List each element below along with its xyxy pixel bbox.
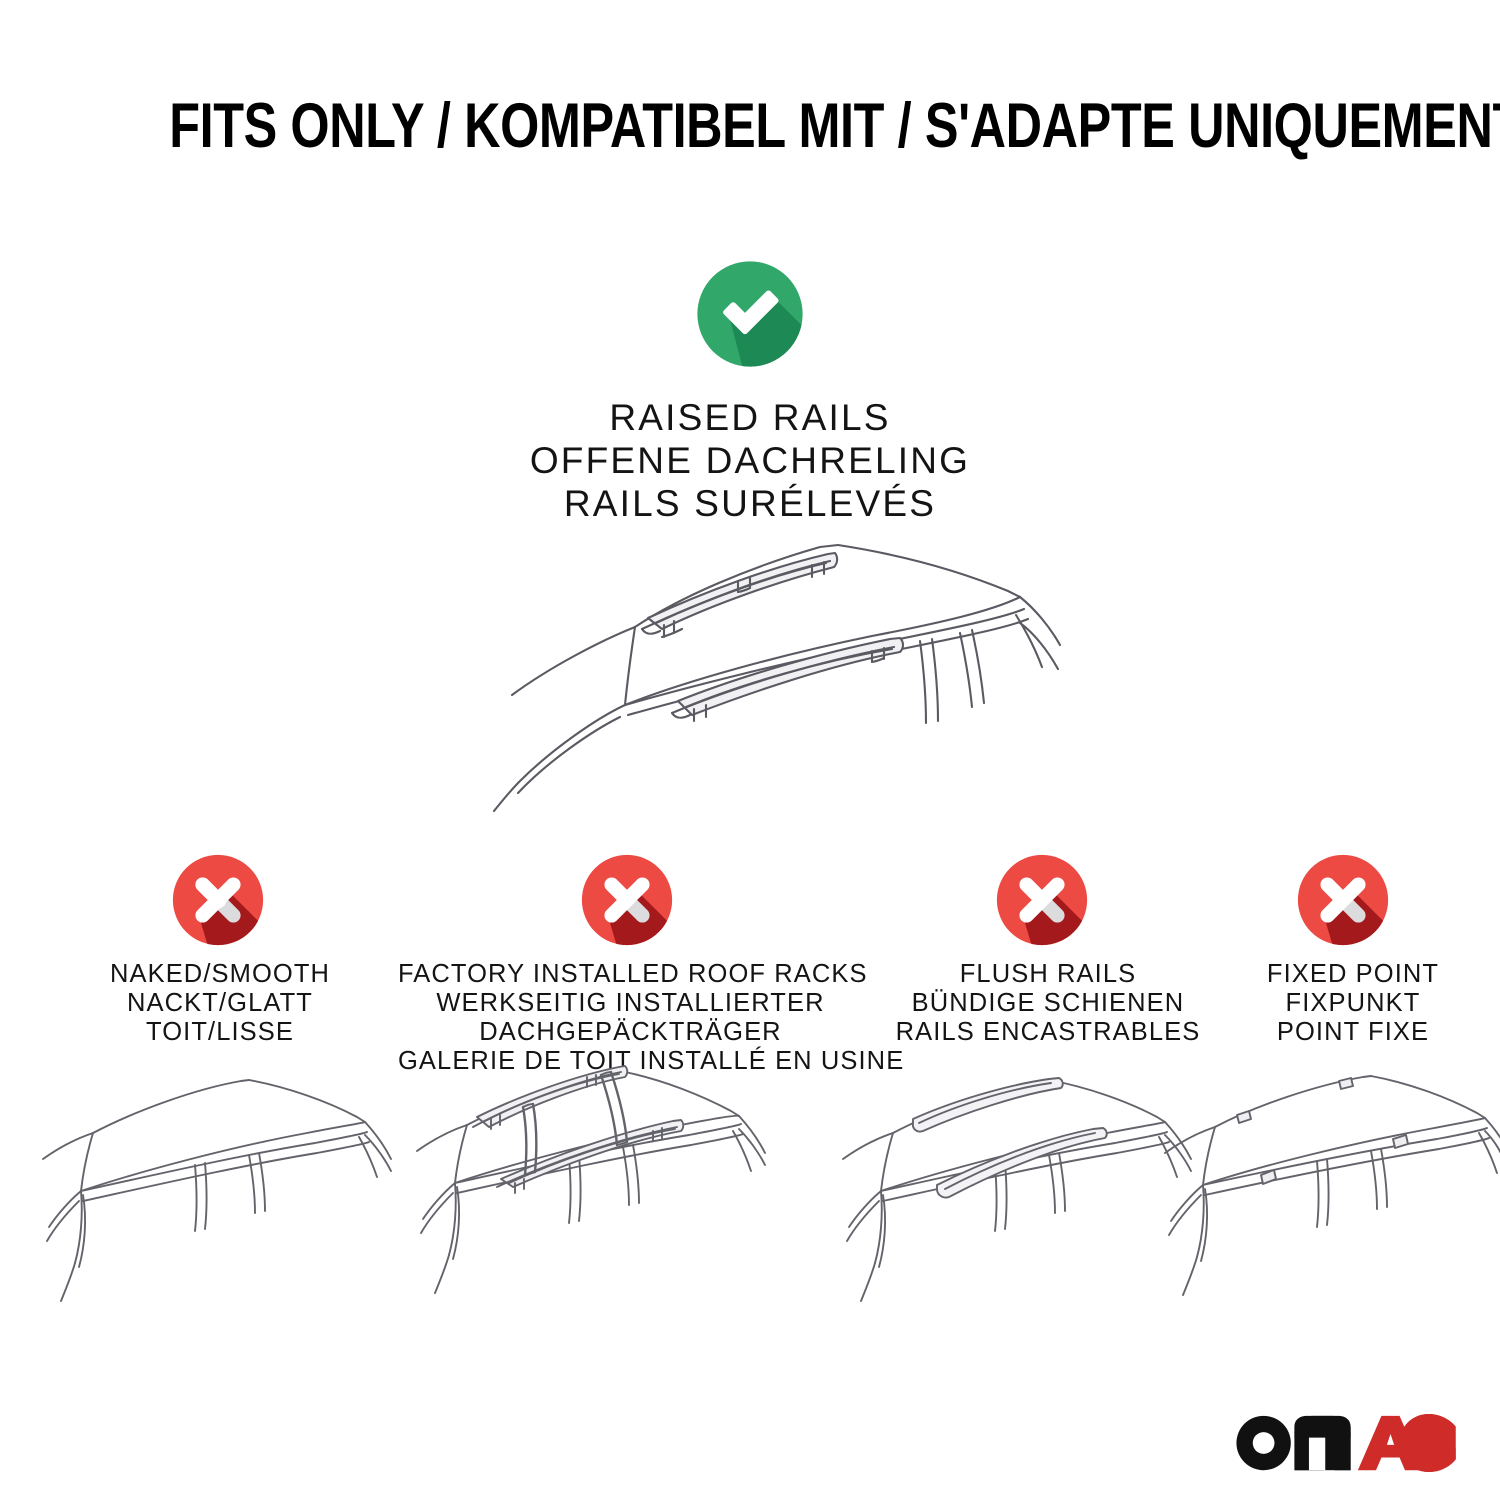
incompatible-column-naked-smooth: NAKED/SMOOTH NACKT/GLATT TOIT/LISSE	[30, 852, 410, 1047]
car-roof-factory-roof-racks-illustration	[405, 1055, 805, 1315]
omac-logo	[1231, 1414, 1458, 1472]
incompatible-label-fr: POINT FIXE	[1218, 1018, 1488, 1047]
incompatible-label-fr: RAILS ENCASTRABLES	[858, 1018, 1238, 1047]
incompatible-label-de: FIXPUNKT	[1218, 989, 1488, 1018]
incompatible-label-en: FLUSH RAILS	[858, 960, 1238, 989]
page-title-text: FITS ONLY / KOMPATIBEL MIT / S'ADAPTE UN…	[169, 95, 1500, 158]
check-circle-icon	[694, 258, 806, 370]
incompatible-column-factory-roof-racks: FACTORY INSTALLED ROOF RACKS WERKSEITIG …	[398, 852, 863, 1076]
incompatible-sections: NAKED/SMOOTH NACKT/GLATT TOIT/LISSE	[0, 852, 1500, 1052]
roof-illustrations-row	[0, 1055, 1500, 1315]
incompatible-labels: NAKED/SMOOTH NACKT/GLATT TOIT/LISSE	[30, 960, 410, 1047]
incompatible-label-en: NAKED/SMOOTH	[30, 960, 410, 989]
fitment-guide-page: FITS ONLY / KOMPATIBEL MIT / S'ADAPTE UN…	[0, 0, 1500, 1500]
incompatible-label-en: FACTORY INSTALLED ROOF RACKS	[398, 960, 863, 989]
x-circle-icon	[579, 852, 675, 948]
car-roof-fixed-point-illustration	[1155, 1055, 1500, 1315]
incompatible-column-fixed-point: FIXED POINT FIXPUNKT POINT FIXE	[1218, 852, 1488, 1047]
incompatible-labels: FLUSH RAILS BÜNDIGE SCHIENEN RAILS ENCAS…	[858, 960, 1238, 1047]
x-circle-icon	[170, 852, 266, 948]
incompatible-label-en: FIXED POINT	[1218, 960, 1488, 989]
car-roof-naked-smooth-illustration	[35, 1055, 415, 1315]
incompatible-label-de: NACKT/GLATT	[30, 989, 410, 1018]
incompatible-label-de-2: DACHGEPÄCKTRÄGER	[398, 1018, 863, 1047]
compatible-label-de: OFFENE DACHRELING	[0, 439, 1500, 482]
incompatible-column-flush-rails: FLUSH RAILS BÜNDIGE SCHIENEN RAILS ENCAS…	[858, 852, 1238, 1047]
page-title: FITS ONLY / KOMPATIBEL MIT / S'ADAPTE UN…	[0, 95, 1500, 158]
compatible-section: RAISED RAILS OFFENE DACHRELING RAILS SUR…	[0, 258, 1500, 525]
incompatible-label-de-1: WERKSEITIG INSTALLIERTER	[398, 989, 863, 1018]
x-circle-icon	[994, 852, 1090, 948]
incompatible-labels: FIXED POINT FIXPUNKT POINT FIXE	[1218, 960, 1488, 1047]
compatible-label-en: RAISED RAILS	[0, 396, 1500, 439]
car-roof-raised-rails-illustration	[420, 505, 1080, 825]
incompatible-label-de: BÜNDIGE SCHIENEN	[858, 989, 1238, 1018]
incompatible-label-fr: TOIT/LISSE	[30, 1018, 410, 1047]
x-circle-icon	[1295, 852, 1391, 948]
